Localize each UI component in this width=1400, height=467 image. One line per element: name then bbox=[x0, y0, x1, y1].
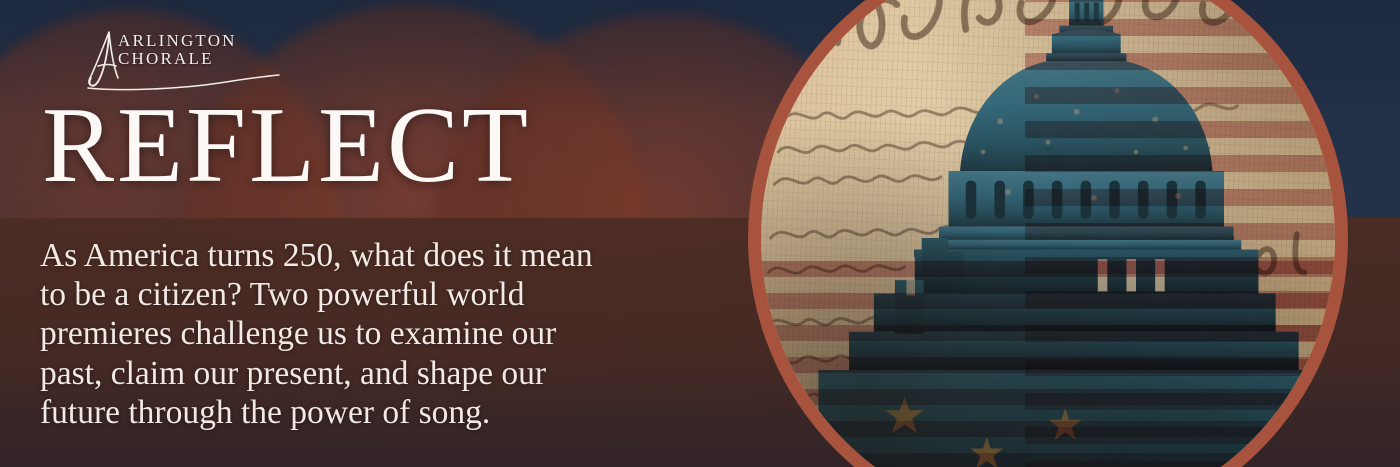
logo-line-chorale: CHORALE bbox=[118, 50, 237, 68]
arlington-chorale-logo[interactable]: ARLINGTON CHORALE bbox=[78, 28, 288, 90]
page-title: REFLECT bbox=[42, 92, 531, 200]
blurb-line: premieres challenge us to examine our bbox=[40, 314, 752, 353]
blurb-line: As America turns 250, what does it mean bbox=[40, 236, 752, 275]
capitol-photo bbox=[761, 0, 1335, 467]
capitol-photo-circle bbox=[748, 0, 1348, 467]
blurb-line: future through the power of song. bbox=[40, 393, 752, 432]
reflect-season-banner: ARLINGTON CHORALE REFLECT As America tur… bbox=[0, 0, 1400, 467]
season-description: As America turns 250, what does it mean … bbox=[40, 236, 752, 432]
photo-grunge-overlay bbox=[761, 0, 1335, 467]
logo-line-arlington: ARLINGTON bbox=[118, 32, 237, 50]
blurb-line: past, claim our present, and shape our bbox=[40, 354, 752, 393]
logo-wordmark: ARLINGTON CHORALE bbox=[118, 32, 237, 69]
blurb-line: to be a citizen? Two powerful world bbox=[40, 275, 752, 314]
